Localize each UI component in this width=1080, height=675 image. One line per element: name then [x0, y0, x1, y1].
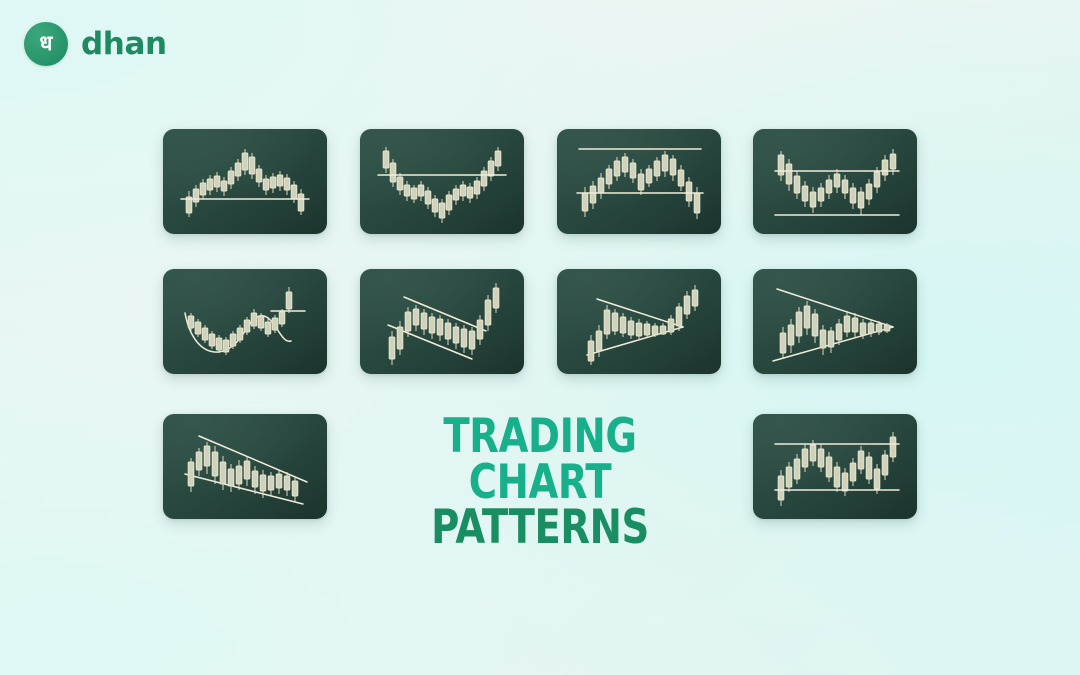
chart-cup-and-handle: [163, 269, 327, 374]
pattern-card-falling-wedge[interactable]: [163, 414, 327, 519]
dhan-circle-logo-icon: ध: [24, 22, 68, 66]
chart-head-and-shoulders: [163, 129, 327, 234]
logo-glyph: ध: [40, 33, 53, 54]
brand-name: dhan: [81, 26, 167, 62]
pattern-card-inverse-head-and-shoulders[interactable]: [360, 129, 524, 234]
pattern-card-cup-and-handle[interactable]: [163, 269, 327, 374]
chart-rectangle-trading-range: [753, 414, 917, 519]
chart-symmetrical-triangle-wedge: [753, 269, 917, 374]
pattern-card-double-bottom[interactable]: [753, 129, 917, 234]
title-line-1: TRADING CHART: [386, 414, 694, 505]
chart-double-top: [557, 129, 721, 234]
chart-falling-wedge: [163, 414, 327, 519]
page-title: TRADING CHART PATTERNS: [352, 414, 728, 551]
title-line-2: PATTERNS: [386, 505, 694, 551]
pattern-card-rectangle-range[interactable]: [753, 414, 917, 519]
poster-canvas: ध dhan: [0, 0, 1080, 675]
chart-double-bottom: [753, 129, 917, 234]
pattern-card-double-top[interactable]: [557, 129, 721, 234]
chart-bull-flag-falling-channel: [360, 269, 524, 374]
pattern-card-symmetrical-triangle-breakout[interactable]: [557, 269, 721, 374]
pattern-card-symmetrical-triangle-wedge[interactable]: [753, 269, 917, 374]
chart-symmetrical-triangle-bullish: [557, 269, 721, 374]
chart-inverse-head-and-shoulders: [360, 129, 524, 234]
pattern-card-head-and-shoulders[interactable]: [163, 129, 327, 234]
pattern-card-bull-flag-channel[interactable]: [360, 269, 524, 374]
brand-logo[interactable]: ध dhan: [24, 22, 167, 66]
